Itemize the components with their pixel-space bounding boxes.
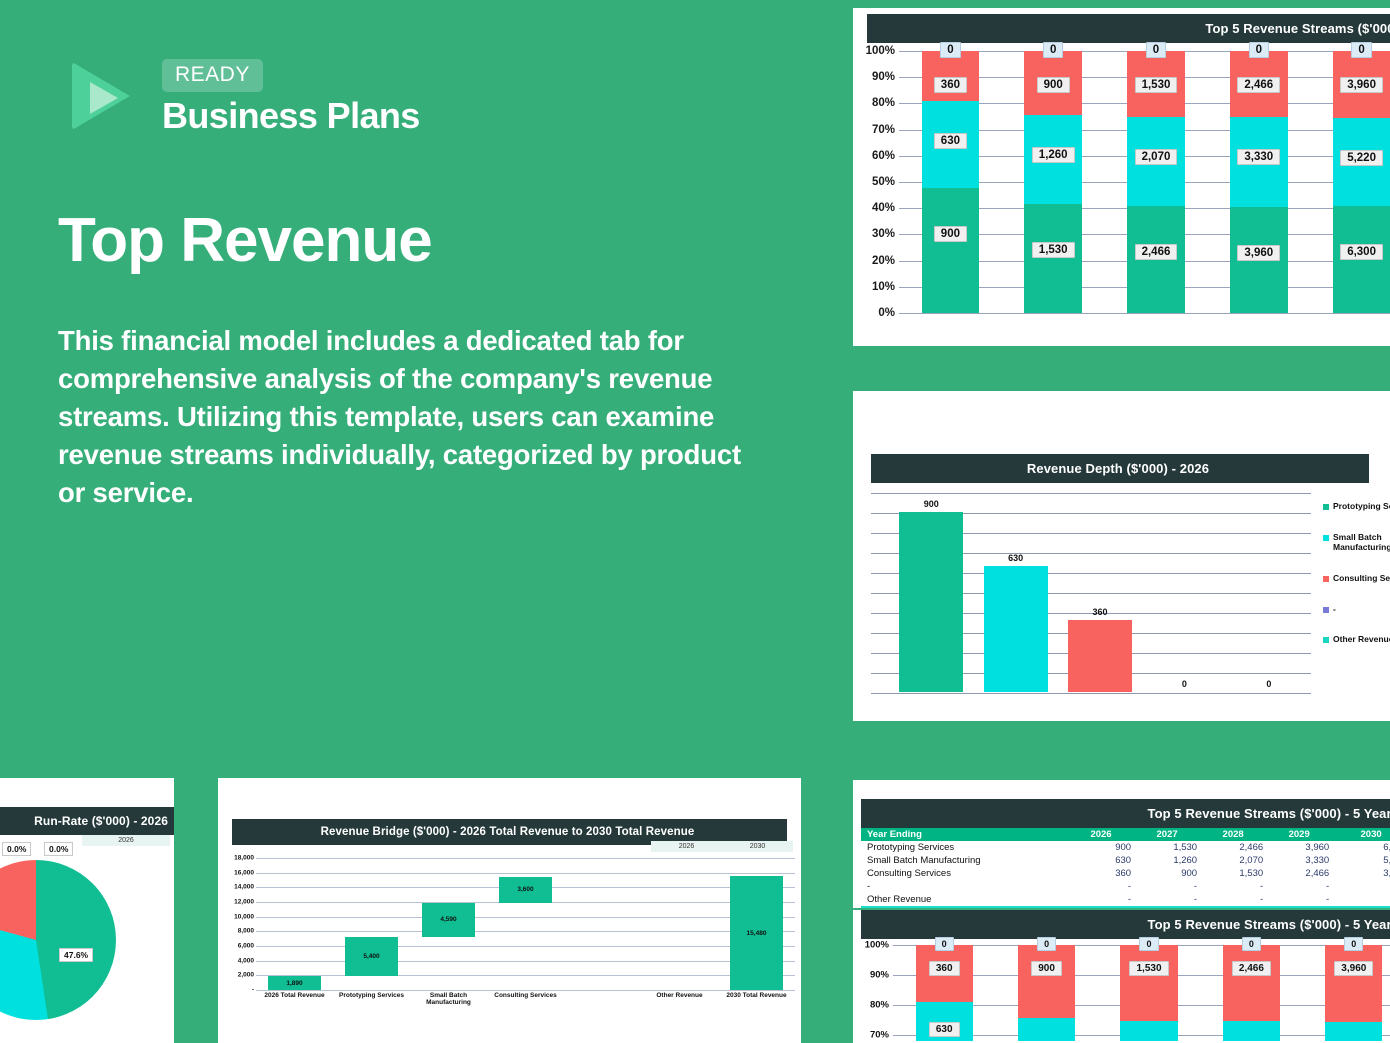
bar-slot: 0 — [1227, 493, 1311, 692]
table-row-label: Small Batch Manufacturing — [861, 854, 1071, 867]
panel-bottom-revenue-streams-chart: Top 5 Revenue Streams ($'000) - 5 Years … — [853, 910, 1390, 1043]
table-cell: 2,466 — [1269, 867, 1335, 880]
bar-segment: 5,220 — [1333, 118, 1390, 206]
table-row: Prototyping Services9001,5302,4663,9606,… — [861, 841, 1390, 854]
bar-group: 0360630090001,53002,46603,960 — [893, 945, 1390, 1041]
bar-slot — [641, 858, 718, 990]
table-column-header: 2026 — [1071, 828, 1137, 841]
bar-value-label: 3,960 — [1334, 961, 1373, 976]
table-cell: - — [1137, 880, 1203, 893]
bar-slot: 01,530 — [1098, 945, 1200, 1041]
legend-item: - — [1323, 604, 1390, 615]
table-row: Other Revenue----- — [861, 893, 1390, 906]
bar-group: 1,8905,4004,5903,60015,480 — [256, 858, 795, 990]
bar-slot: 03,960 — [1303, 945, 1390, 1041]
bar-value-label: 5,220 — [1340, 150, 1383, 166]
bar: 3,600 — [499, 877, 551, 903]
y-tick: 0% — [878, 307, 895, 319]
bar-segment — [1325, 1022, 1382, 1041]
y-axis-top: 100%90%80%70%60%50%40%30%20%10%0% — [853, 51, 899, 313]
legend-swatch — [1323, 607, 1329, 613]
bar-value-label: 0 — [1227, 679, 1311, 689]
bar-value-label: 1,890 — [286, 980, 302, 987]
bar-group: 036063090009001,2601,53001,5302,0702,466… — [899, 51, 1390, 313]
x-tick: Small Batch Manufacturing — [410, 992, 487, 1006]
table-total-cell: 15,480 — [1335, 906, 1390, 908]
bar-segment: 02,466 — [1223, 945, 1280, 1021]
pie-label-4: 47.6% — [59, 948, 93, 962]
bar-value-label: 630 — [973, 553, 1057, 563]
table-row: ------ — [861, 880, 1390, 893]
table-cell: - — [1269, 893, 1335, 906]
y-tick: 10% — [872, 281, 895, 293]
table-cell: 630 — [1071, 854, 1137, 867]
table-cell: 1,260 — [1137, 854, 1203, 867]
table-cell: - — [1203, 893, 1269, 906]
bar-value-label-zero: 0 — [935, 937, 954, 951]
y-tick: 70% — [872, 124, 895, 136]
bar-segment: 2,070 — [1127, 117, 1185, 206]
plot-area-bottom: 0360630090001,53002,46603,960 — [893, 945, 1390, 1041]
bar-value-label: 1,530 — [1129, 961, 1168, 976]
ready-badge: READY — [162, 59, 263, 92]
bar-value-label: 900 — [934, 226, 967, 242]
legend-swatch — [1323, 576, 1329, 582]
bar: 5,400 — [345, 937, 397, 977]
pie-label-1: 0.0% — [44, 842, 73, 856]
bar-value-label: 900 — [1031, 961, 1062, 976]
table-column-header: 2029 — [1269, 828, 1335, 841]
bar-value-label: 900 — [889, 499, 973, 509]
y-tick: 90% — [872, 71, 895, 83]
bar-segment: 1,260 — [1024, 115, 1082, 204]
chart-title-bottom: Top 5 Revenue Streams ($'000) - 5 Years — [861, 910, 1390, 939]
stacked-bar: 0900 — [1018, 945, 1075, 1041]
stacked-bar: 03,9605,2206,300 — [1333, 51, 1390, 313]
bar — [984, 566, 1048, 692]
bar-slot: 4,590 — [410, 858, 487, 990]
bar-segment: 630 — [922, 101, 980, 188]
bar-segment — [1120, 1021, 1177, 1041]
bar-segment: 01,530 — [1120, 945, 1177, 1021]
legend-item: Consulting Services — [1323, 573, 1390, 584]
page-title: Top Revenue — [58, 208, 432, 273]
bar-value-label: 15,480 — [747, 930, 767, 937]
bar-slot: 0360630900 — [899, 51, 1002, 313]
y-tick: 90% — [870, 970, 889, 981]
bar-value-label: 630 — [934, 133, 967, 149]
bar: 4,590 — [422, 903, 474, 937]
bar-slot: 03,9605,2206,300 — [1310, 51, 1390, 313]
bar-value-label-zero: 0 — [1242, 937, 1261, 951]
table-column-header: 2028 — [1203, 828, 1269, 841]
pie-label-0: 0.0% — [2, 842, 31, 856]
legend-label: - — [1333, 604, 1336, 615]
bar-value-label-zero: 0 — [1249, 42, 1269, 58]
bar-value-label-zero: 0 — [1139, 937, 1158, 951]
y-tick: 30% — [872, 228, 895, 240]
stacked-bar: 09001,2601,530 — [1024, 51, 1082, 313]
bar-segment: 900 — [922, 188, 980, 313]
x-axis-revenue-bridge: 2026 Total RevenuePrototyping ServicesSm… — [256, 992, 795, 1006]
legend-swatch — [1323, 504, 1329, 510]
table-row-label: Prototyping Services — [861, 841, 1071, 854]
table-cell: - — [1071, 893, 1137, 906]
bar-value-label: 2,466 — [1232, 961, 1271, 976]
y-tick: 60% — [872, 150, 895, 162]
panel-revenue-table: Top 5 Revenue Streams ($'000) - 5 Years … — [853, 780, 1390, 908]
y-tick: 10,000 — [234, 913, 254, 920]
bar-value-label: 5,400 — [363, 953, 379, 960]
table-cell: - — [1071, 880, 1137, 893]
bar-segment: 0900 — [1024, 51, 1082, 115]
table-cell: 3,960 — [1269, 841, 1335, 854]
legend-label: Consulting Services — [1333, 573, 1390, 584]
bar-slot: 09001,2601,530 — [1002, 51, 1105, 313]
plot-area-revenue-bridge: 1,8905,4004,5903,60015,480 — [256, 858, 795, 990]
legend-item: Other Revenue — [1323, 634, 1390, 645]
bar-segment: 630 — [916, 1002, 973, 1041]
bar-slot: 5,400 — [333, 858, 410, 990]
bar-value-label: 630 — [929, 1022, 960, 1037]
bar-slot: 0 — [1142, 493, 1226, 692]
table-total-cell: 1,890 — [1071, 906, 1137, 908]
legend-swatch — [1323, 637, 1329, 643]
bar-segment: 02,466 — [1230, 51, 1288, 117]
y-tick: 8,000 — [238, 928, 254, 935]
bar-slot: 01,5302,0702,466 — [1105, 51, 1208, 313]
bar-segment: 3,960 — [1230, 207, 1288, 313]
bar-slot: 630 — [973, 493, 1057, 692]
bridge-year-key: 20262030 — [651, 841, 793, 852]
stacked-bar: 03,960 — [1325, 945, 1382, 1041]
table-total-cell: 9,756 — [1269, 906, 1335, 908]
play-triangle-icon — [72, 60, 144, 132]
legend-revenue-depth: Prototyping ServicesSmall Batch Manufact… — [1323, 501, 1390, 665]
bar-slot: 3,600 — [487, 858, 564, 990]
bar: 15,480 — [730, 876, 782, 990]
y-tick: 100% — [865, 940, 889, 951]
gridline — [256, 990, 795, 991]
table-row: Consulting Services3609001,5302,4663,960 — [861, 867, 1390, 880]
bar-value-label-zero: 0 — [1043, 42, 1063, 58]
table-title: Top 5 Revenue Streams ($'000) - 5 Years — [861, 799, 1390, 828]
pie-chart-wrap: 0.0% 0.0% 19.0% 33.3% 47.6% — [0, 860, 116, 1020]
bar-segment: 01,530 — [1127, 51, 1185, 117]
bar-value-label: 900 — [1037, 77, 1070, 93]
table-cell: 360 — [1071, 867, 1137, 880]
bridge-key-year: 2026 — [651, 841, 722, 852]
stacked-bar: 01,530 — [1120, 945, 1177, 1041]
bar-slot: 0900 — [995, 945, 1097, 1041]
legend-label: Other Revenue — [1333, 634, 1390, 645]
bar-slot: 02,466 — [1200, 945, 1302, 1041]
x-tick: Prototyping Services — [333, 992, 410, 1006]
bar-slot: 15,480 — [718, 858, 795, 990]
page-description: This financial model includes a dedicate… — [58, 322, 770, 512]
bar-value-label: 360 — [934, 77, 967, 93]
chart-top-body: 100%90%80%70%60%50%40%30%20%10%0% 036063… — [853, 51, 1390, 323]
bar-segment: 0360 — [916, 945, 973, 1002]
table-cell: 3,960 — [1335, 867, 1390, 880]
bar: 1,890 — [268, 976, 320, 990]
legend-label: Small Batch Manufacturing — [1333, 532, 1390, 553]
table-row: Small Batch Manufacturing6301,2602,0703,… — [861, 854, 1390, 867]
bar-value-label: 3,600 — [517, 886, 533, 893]
table-cell: 6,300 — [1335, 841, 1390, 854]
gridline — [871, 693, 1311, 694]
revenue-table: Year Ending20262027202820292030 Prototyp… — [861, 828, 1390, 908]
y-tick: 20% — [872, 255, 895, 267]
bar-slot: 02,4663,3303,960 — [1207, 51, 1310, 313]
bar-segment — [1018, 1018, 1075, 1041]
table-cell: - — [1203, 880, 1269, 893]
chart-bottom-body: 100%90%80%70% 0360630090001,53002,46603,… — [853, 945, 1390, 1041]
bar-value-label-zero: 0 — [1146, 42, 1166, 58]
panel-top-revenue-streams-chart: Top 5 Revenue Streams ($'000) 100%90%80%… — [853, 8, 1390, 346]
y-axis-bottom: 100%90%80%70% — [853, 945, 893, 1041]
table-head: Year Ending20262027202820292030 — [861, 828, 1390, 841]
table-row-label: - — [861, 880, 1071, 893]
bar-value-label: 6,300 — [1340, 244, 1383, 260]
bar-value-label: 3,330 — [1237, 149, 1280, 165]
table-cell: 3,330 — [1269, 854, 1335, 867]
plot-area-revenue-depth: 90063036000 — [871, 493, 1311, 693]
x-tick — [564, 992, 641, 1006]
y-tick: 6,000 — [238, 943, 254, 950]
bar-value-label: 3,960 — [1237, 245, 1280, 261]
bar-value-label: 1,260 — [1032, 147, 1075, 163]
table-cell: - — [1137, 893, 1203, 906]
bar-group: 90063036000 — [889, 493, 1311, 692]
bar-segment: 03,960 — [1325, 945, 1382, 1022]
table-column-header: Year Ending — [861, 828, 1071, 841]
stacked-bar: 0360630 — [916, 945, 973, 1041]
plot-area-top: 036063090009001,2601,53001,5302,0702,466… — [899, 51, 1390, 313]
x-tick: Consulting Services — [487, 992, 564, 1006]
x-tick: Other Revenue — [641, 992, 718, 1006]
bar — [899, 512, 963, 692]
table-column-header: 2030 — [1335, 828, 1390, 841]
table-row-label: Consulting Services — [861, 867, 1071, 880]
legend-item: Prototyping Services — [1323, 501, 1390, 512]
y-tick: 16,000 — [234, 869, 254, 876]
panel-run-rate-pie: Run-Rate ($'000) - 2026 2026 0.0% 0.0% 1… — [0, 778, 174, 1043]
stacked-bar: 0360630900 — [922, 51, 980, 313]
bar-value-label: 2,466 — [1135, 244, 1178, 260]
bar-slot: 360 — [1058, 493, 1142, 692]
bar-slot: 0360630 — [893, 945, 995, 1041]
table-cell: 900 — [1071, 841, 1137, 854]
brand-lockup: READY Business Plans — [72, 57, 420, 136]
table-column-header: 2027 — [1137, 828, 1203, 841]
pie-year-label: 2026 — [82, 835, 170, 846]
y-tick: 50% — [872, 176, 895, 188]
table-total-row: Total Revenue1,8903,6906,0669,75615,480 — [861, 906, 1390, 908]
table-cell: 5,220 — [1335, 854, 1390, 867]
table-cell: - — [1335, 893, 1390, 906]
chart-revenue-depth-body: 90063036000 Prototyping ServicesSmall Ba… — [871, 493, 1390, 703]
bar-slot: 1,890 — [256, 858, 333, 990]
y-tick: 80% — [872, 97, 895, 109]
bar-slot — [564, 858, 641, 990]
bridge-key-year: 2030 — [722, 841, 793, 852]
table-cell: 2,070 — [1203, 854, 1269, 867]
bar-segment: 6,300 — [1333, 206, 1390, 313]
gridline — [899, 313, 1390, 314]
bar-segment: 03,960 — [1333, 51, 1390, 118]
table-header-row: Year Ending20262027202820292030 — [861, 828, 1390, 841]
table-row-label: Other Revenue — [861, 893, 1071, 906]
bar-value-label: 360 — [1058, 607, 1142, 617]
bar-value-label: 360 — [929, 961, 960, 976]
bar-segment — [1223, 1021, 1280, 1041]
bar-value-label: 2,070 — [1135, 149, 1178, 165]
y-tick: 12,000 — [234, 899, 254, 906]
y-tick: 100% — [866, 45, 895, 57]
stacked-bar: 02,4663,3303,960 — [1230, 51, 1288, 313]
table-cell: 900 — [1137, 867, 1203, 880]
legend-swatch — [1323, 535, 1329, 541]
x-tick: 2030 Total Revenue — [718, 992, 795, 1006]
bar-value-label: 4,590 — [440, 916, 456, 923]
bar-value-label-zero: 0 — [1351, 42, 1371, 58]
table-total-cell: 6,066 — [1203, 906, 1269, 908]
stacked-bar: 02,466 — [1223, 945, 1280, 1041]
bar-value-label-zero: 0 — [940, 42, 960, 58]
bar-segment: 0900 — [1018, 945, 1075, 1018]
x-tick: 2026 Total Revenue — [256, 992, 333, 1006]
bar-segment: 2,466 — [1127, 206, 1185, 313]
chart-revenue-bridge-body: 18,00016,00014,00012,00010,0008,0006,000… — [218, 858, 801, 1013]
chart-title-revenue-depth: Revenue Depth ($'000) - 2026 — [871, 454, 1369, 483]
pie-chart — [0, 860, 116, 1020]
y-tick: 80% — [870, 1000, 889, 1011]
chart-title-run-rate: Run-Rate ($'000) - 2026 — [0, 807, 174, 835]
y-tick: 40% — [872, 202, 895, 214]
y-tick: 14,000 — [234, 884, 254, 891]
table-body: Prototyping Services9001,5302,4663,9606,… — [861, 841, 1390, 908]
table-cell: - — [1335, 880, 1390, 893]
bar-value-label: 2,466 — [1237, 77, 1280, 93]
bar-segment: 0360 — [922, 51, 980, 101]
y-tick: 18,000 — [234, 855, 254, 862]
bar-value-label-zero: 0 — [1344, 937, 1363, 951]
bar-value-label: 1,530 — [1135, 77, 1178, 93]
brand-name: Business Plans — [162, 96, 420, 136]
table-total-cell: 3,690 — [1137, 906, 1203, 908]
bar-segment: 1,530 — [1024, 204, 1082, 313]
bar-value-label: 3,960 — [1340, 77, 1383, 93]
panel-revenue-bridge: Revenue Bridge ($'000) - 2026 Total Reve… — [218, 778, 801, 1043]
y-tick: 4,000 — [238, 957, 254, 964]
bar-slot: 900 — [889, 493, 973, 692]
y-tick: 2,000 — [238, 972, 254, 979]
panel-revenue-depth: Revenue Depth ($'000) - 2026 90063036000… — [853, 391, 1390, 721]
y-axis-revenue-bridge: 18,00016,00014,00012,00010,0008,0006,000… — [218, 858, 254, 990]
table-cell: 1,530 — [1203, 867, 1269, 880]
y-tick: - — [252, 987, 254, 994]
bar — [1068, 620, 1132, 692]
table-total-label: Total Revenue — [861, 906, 1071, 908]
chart-title-top: Top 5 Revenue Streams ($'000) — [867, 14, 1390, 43]
legend-label: Prototyping Services — [1333, 501, 1390, 512]
bar-value-label-zero: 0 — [1037, 937, 1056, 951]
bar-value-label: 0 — [1142, 679, 1226, 689]
table-cell: 2,466 — [1203, 841, 1269, 854]
bar-segment: 3,330 — [1230, 117, 1288, 206]
legend-item: Small Batch Manufacturing — [1323, 532, 1390, 553]
stacked-bar: 01,5302,0702,466 — [1127, 51, 1185, 313]
y-tick: 70% — [870, 1030, 889, 1041]
brand-text: READY Business Plans — [162, 57, 420, 136]
bar-value-label: 1,530 — [1032, 242, 1075, 258]
table-cell: 1,530 — [1137, 841, 1203, 854]
table-cell: - — [1269, 880, 1335, 893]
